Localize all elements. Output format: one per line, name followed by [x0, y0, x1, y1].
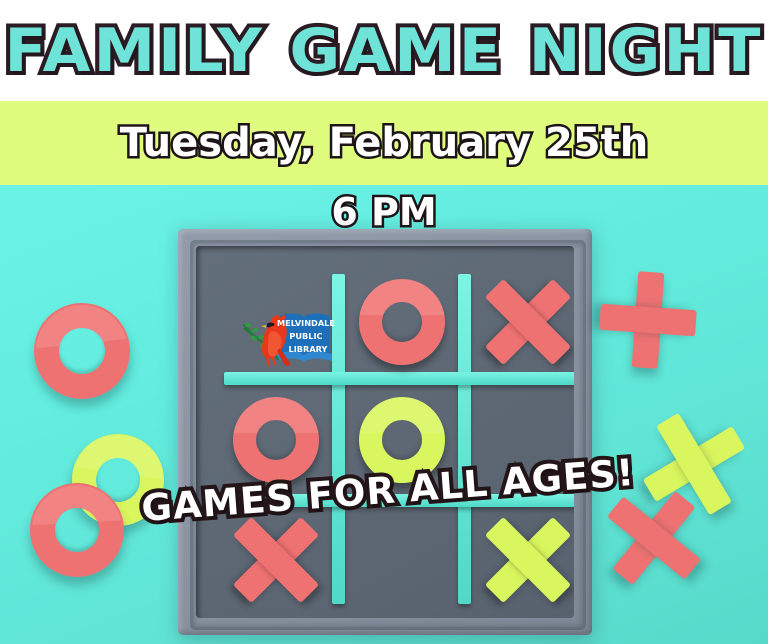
board-cell-2-2[interactable] [472, 504, 574, 616]
grid-bar-vertical-2 [458, 274, 471, 604]
board-inner-surface: MELVINDALE PUBLIC LIBRARY [196, 246, 574, 618]
event-date: Tuesday, February 25th [0, 108, 768, 178]
piece-o-red [28, 481, 127, 580]
loose-x-red-lower-right [599, 483, 709, 593]
loose-o-red-lower-left [28, 481, 127, 580]
page-title: FAMILY GAME NIGHT [0, 6, 768, 96]
loose-plus-red-right [597, 269, 699, 371]
library-logo: MELVINDALE PUBLIC LIBRARY [242, 308, 350, 370]
piece-x-red [599, 483, 709, 593]
tic-tac-toe-board: MELVINDALE PUBLIC LIBRARY [178, 229, 592, 635]
logo-line-2: PUBLIC [289, 331, 322, 341]
logo-line-1: MELVINDALE [277, 318, 335, 328]
loose-o-red-upper-left [29, 298, 135, 404]
board-play-area: MELVINDALE PUBLIC LIBRARY [220, 268, 574, 618]
board-cell-0-1[interactable] [346, 266, 458, 378]
piece-x-red [480, 274, 574, 370]
logo-line-3: LIBRARY [289, 344, 329, 354]
board-cell-0-0[interactable]: MELVINDALE PUBLIC LIBRARY [220, 266, 332, 378]
piece-x-lime [480, 512, 574, 608]
piece-o-red [359, 279, 445, 365]
board-cell-0-2[interactable] [472, 266, 574, 378]
piece-o-red [29, 298, 135, 404]
piece-plus-red [597, 269, 699, 371]
poster-canvas: FAMILY GAME NIGHT Tuesday, February 25th… [0, 0, 768, 644]
board-cell-2-1[interactable] [346, 504, 458, 616]
